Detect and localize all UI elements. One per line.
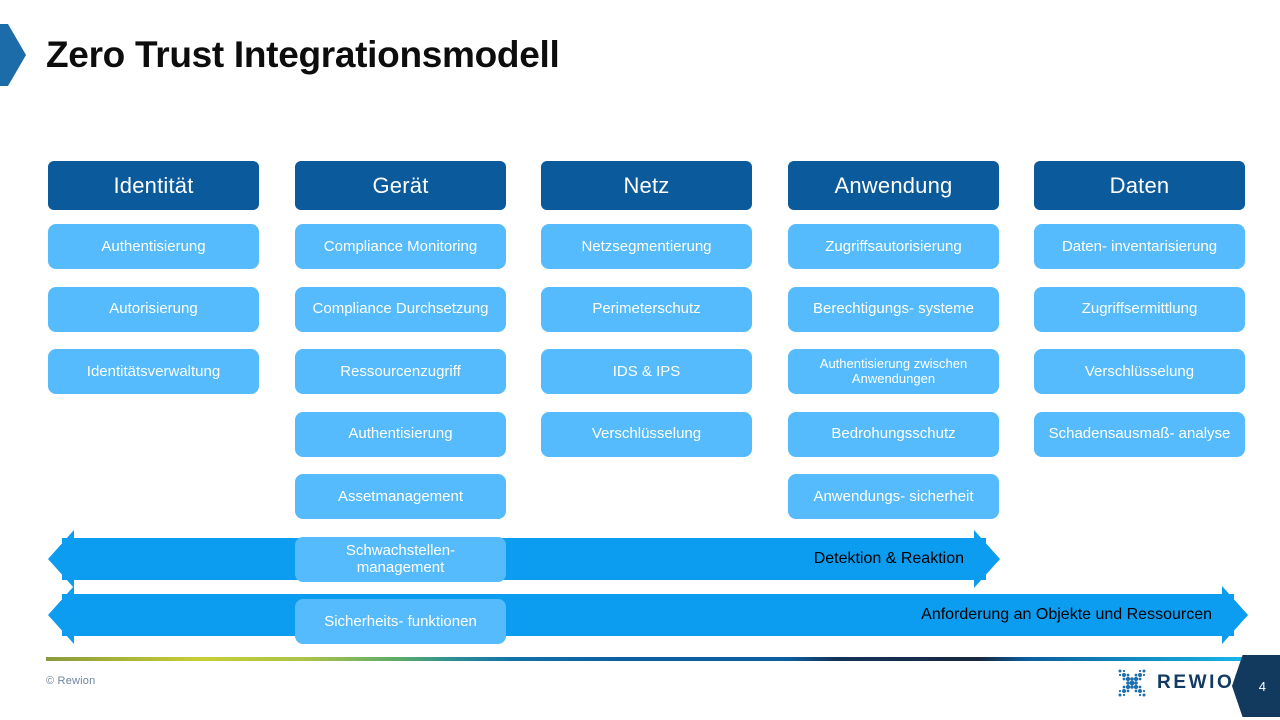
column-header[interactable]: Identität xyxy=(48,161,259,210)
matrix-cell[interactable]: Schwachstellen- management xyxy=(295,537,506,582)
matrix-cell[interactable]: Zugriffsermittlung xyxy=(1034,287,1245,332)
matrix-column: Identität xyxy=(48,161,259,210)
matrix-column: Daten xyxy=(1034,161,1245,210)
matrix-cell[interactable]: Perimeterschutz xyxy=(541,287,752,332)
matrix-cell[interactable]: Zugriffsautorisierung xyxy=(788,224,999,269)
footer-divider xyxy=(46,657,1242,661)
arrow-band-label: Anforderung an Objekte und Ressourcen xyxy=(0,606,1212,624)
matrix-cell[interactable]: Sicherheits- funktionen xyxy=(295,599,506,644)
matrix-cell[interactable]: Netzsegmentierung xyxy=(541,224,752,269)
matrix-cell[interactable]: Authentisierung xyxy=(48,224,259,269)
matrix-cell[interactable]: IDS & IPS xyxy=(541,349,752,394)
matrix-cell[interactable]: Assetmanagement xyxy=(295,474,506,519)
matrix-cell[interactable]: Bedrohungsschutz xyxy=(788,412,999,457)
matrix-cell[interactable]: Berechtigungs- systeme xyxy=(788,287,999,332)
matrix-cell[interactable]: Schadensausmaß- analyse xyxy=(1034,412,1245,457)
brand-logo: REWION xyxy=(1115,666,1251,700)
matrix-cell[interactable]: Authentisierung xyxy=(295,412,506,457)
matrix-cell[interactable]: Daten- inventarisierung xyxy=(1034,224,1245,269)
column-header[interactable]: Netz xyxy=(541,161,752,210)
column-header[interactable]: Anwendung xyxy=(788,161,999,210)
matrix-cell[interactable]: Verschlüsselung xyxy=(1034,349,1245,394)
matrix-cell[interactable]: Compliance Monitoring xyxy=(295,224,506,269)
column-header[interactable]: Daten xyxy=(1034,161,1245,210)
matrix-cell[interactable]: Identitätsverwaltung xyxy=(48,349,259,394)
matrix-cell[interactable]: Anwendungs- sicherheit xyxy=(788,474,999,519)
slide-canvas: Zero Trust Integrationsmodell IdentitätA… xyxy=(0,0,1280,720)
matrix-cell[interactable]: Verschlüsselung xyxy=(541,412,752,457)
matrix-cell[interactable]: Authentisierung zwischen Anwendungen xyxy=(788,349,999,394)
matrix-cell[interactable]: Autorisierung xyxy=(48,287,259,332)
column-header[interactable]: Gerät xyxy=(295,161,506,210)
rewion-x-mark-icon xyxy=(1115,666,1149,700)
copyright-label: © Rewion xyxy=(46,675,95,687)
matrix-column: Anwendung xyxy=(788,161,999,210)
matrix-cell[interactable]: Compliance Durchsetzung xyxy=(295,287,506,332)
matrix-column: Gerät xyxy=(295,161,506,210)
matrix-cell[interactable]: Ressourcenzugriff xyxy=(295,349,506,394)
matrix-column: Netz xyxy=(541,161,752,210)
